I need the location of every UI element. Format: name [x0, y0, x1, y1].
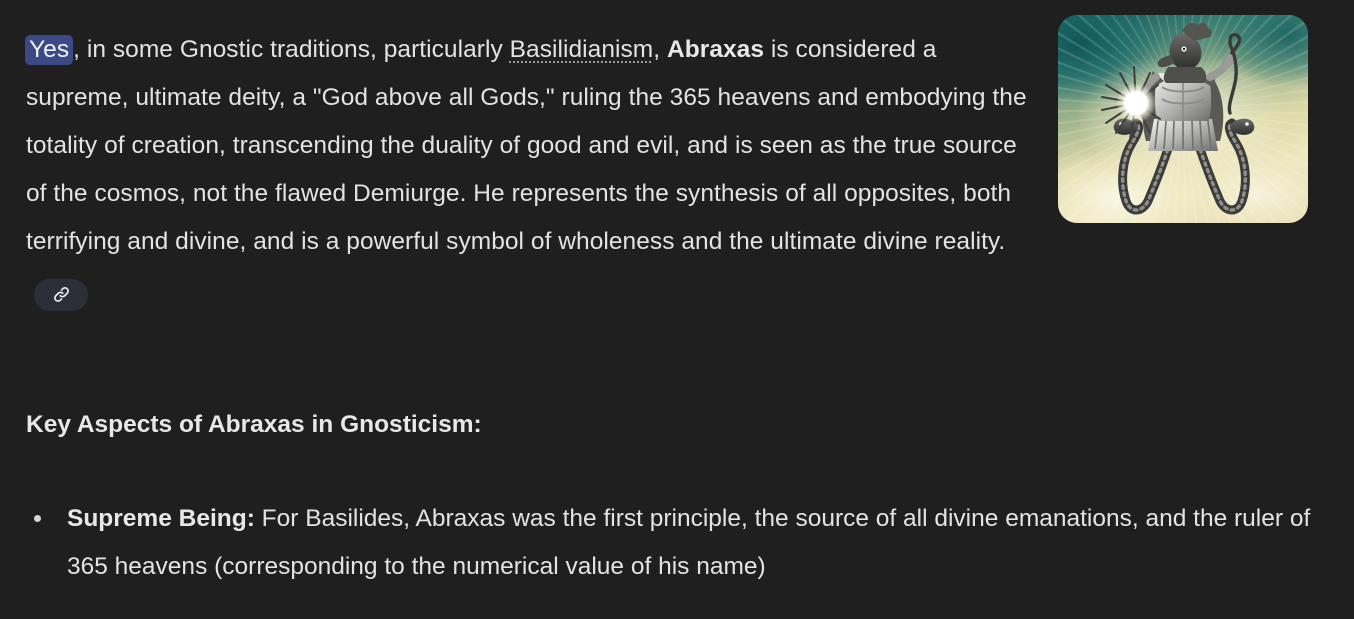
bullet-dot-icon — [34, 515, 41, 522]
answer-segment-3: is considered a supreme, ultimate deity,… — [26, 36, 1027, 255]
page-title: Key Aspects of Abraxas in Gnosticism: — [26, 408, 1126, 442]
abraxas-figure-icon — [1058, 15, 1308, 223]
source-link-button[interactable] — [34, 279, 88, 311]
abraxas-illustration[interactable] — [1058, 15, 1308, 223]
answer-paragraph: Yes, in some Gnostic traditions, particu… — [26, 26, 1038, 314]
list-item-term: Supreme Being: — [67, 505, 255, 532]
answer-segment-2: , — [653, 36, 667, 63]
bold-term-abraxas: Abraxas — [667, 36, 764, 63]
list-item: Supreme Being: For Basilides, Abraxas wa… — [26, 495, 1312, 591]
answer-panel: Yes, in some Gnostic traditions, particu… — [0, 0, 1354, 619]
highlighted-answer-word: Yes — [25, 35, 73, 65]
answer-segment-1: , in some Gnostic traditions, particular… — [73, 36, 510, 63]
misspelled-term: Basilidianism — [510, 36, 654, 63]
link-icon — [51, 284, 72, 305]
key-aspects-list: Supreme Being: For Basilides, Abraxas wa… — [26, 495, 1312, 591]
